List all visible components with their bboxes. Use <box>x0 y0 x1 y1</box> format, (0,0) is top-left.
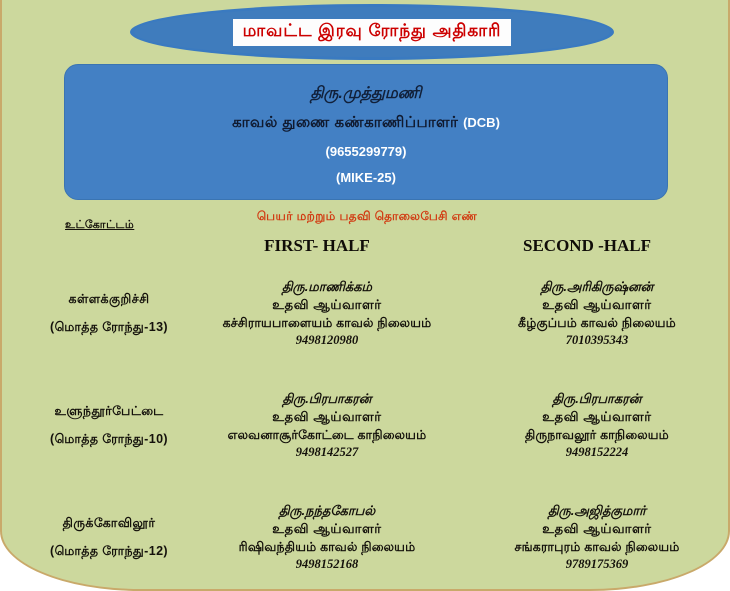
subdivision-cell: உளுந்தூர்பேட்டை (மொத்த ரோந்து-10) <box>2 404 192 448</box>
officer-phone: 9498142527 <box>192 444 462 462</box>
police-station: கீழ்குப்பம் காவல் நிலையம் <box>462 315 730 333</box>
officer-callsign: (MIKE-25) <box>336 170 396 185</box>
officer-rank-text: காவல் துணை கண்காணிப்பாளர் <box>232 114 458 131</box>
patrol-table-body: கள்ளக்குறிச்சி (மொத்த ரோந்து-13) திரு.மா… <box>2 258 730 591</box>
officer-name: திரு.பிரபாகரன் <box>462 390 730 408</box>
column-header-second-half: SECOND -HALF <box>452 236 722 256</box>
officer-name: திரு.அஜித்குமார் <box>462 502 730 520</box>
officer-phone: 9789175369 <box>462 556 730 574</box>
page-title: மாவட்ட இரவு ரோந்து அதிகாரி <box>233 19 512 46</box>
officer-name: திரு.அரிகிருஷ்னன் <box>462 278 730 296</box>
officer-name: திரு.முத்துமணி <box>310 84 421 104</box>
subdivision-name: கள்ளக்குறிச்சி <box>26 292 192 308</box>
officer-rank: உதவி ஆய்வாளர் <box>192 408 462 426</box>
first-half-cell: திரு.பிரபாகரன் உதவி ஆய்வாளர் எலவனாசூர்கோ… <box>192 390 462 462</box>
half-column-headers: FIRST- HALF SECOND -HALF <box>182 236 722 256</box>
officer-rank: காவல் துணை கண்காணிப்பாளர் (DCB) <box>232 114 500 133</box>
table-row: கள்ளக்குறிச்சி (மொத்த ரோந்து-13) திரு.மா… <box>2 258 730 370</box>
officer-name: திரு.நந்தகோபல் <box>192 502 462 520</box>
officer-rank: உதவி ஆய்வாளர் <box>192 520 462 538</box>
table-row: திருக்கோவிலூர் (மொத்த ரோந்து-12) திரு.நந… <box>2 482 730 591</box>
title-ellipse: மாவட்ட இரவு ரோந்து அதிகாரி <box>130 4 614 60</box>
district-officer-card: திரு.முத்துமணி காவல் துணை கண்காணிப்பாளர்… <box>64 64 668 200</box>
subdivision-name: உளுந்தூர்பேட்டை <box>26 404 192 420</box>
subdivision-patrol-total: (மொத்த ரோந்து-12) <box>26 544 192 560</box>
officer-name: திரு.மாணிக்கம் <box>192 278 462 296</box>
subdivision-patrol-total: (மொத்த ரோந்து-13) <box>26 320 192 336</box>
officer-phone: 9498120980 <box>192 332 462 350</box>
officer-rank: உதவி ஆய்வாளர் <box>462 520 730 538</box>
officer-phone: 9498152224 <box>462 444 730 462</box>
first-half-cell: திரு.மாணிக்கம் உதவி ஆய்வாளர் கச்சிராயபாள… <box>192 278 462 350</box>
subdivision-cell: கள்ளக்குறிச்சி (மொத்த ரோந்து-13) <box>2 292 192 336</box>
police-station: ரிஷிவந்தியம் காவல் நிலையம் <box>192 539 462 557</box>
table-row: உளுந்தூர்பேட்டை (மொத்த ரோந்து-10) திரு.ப… <box>2 370 730 482</box>
officer-phone: 7010395343 <box>462 332 730 350</box>
police-station: எலவனாசூர்கோட்டை காநிலையம் <box>192 427 462 445</box>
officer-rank-tag: (DCB) <box>463 115 500 130</box>
subdivision-patrol-total: (மொத்த ரோந்து-10) <box>26 432 192 448</box>
police-station: கச்சிராயபாளையம் காவல் நிலையம் <box>192 315 462 333</box>
column-header-first-half: FIRST- HALF <box>182 236 452 256</box>
police-station: திருநாவலூர் காநிலையம் <box>462 427 730 445</box>
officer-phone: 9498152168 <box>192 556 462 574</box>
second-half-cell: திரு.பிரபாகரன் உதவி ஆய்வாளர் திருநாவலூர்… <box>462 390 730 462</box>
officer-name: திரு.பிரபாகரன் <box>192 390 462 408</box>
officer-phone: (9655299779) <box>326 144 407 159</box>
first-half-cell: திரு.நந்தகோபல் உதவி ஆய்வாளர் ரிஷிவந்தியம… <box>192 502 462 574</box>
subdivision-cell: திருக்கோவிலூர் (மொத்த ரோந்து-12) <box>2 516 192 560</box>
officer-rank: உதவி ஆய்வாளர் <box>192 296 462 314</box>
officer-rank: உதவி ஆய்வாளர் <box>462 296 730 314</box>
subdivision-column-heading: உட்கோட்டம் <box>65 219 134 233</box>
subdivision-name: திருக்கோவிலூர் <box>26 516 192 532</box>
night-patrol-officer-poster: மாவட்ட இரவு ரோந்து அதிகாரி திரு.முத்துமண… <box>0 0 730 591</box>
second-half-cell: திரு.அரிகிருஷ்னன் உதவி ஆய்வாளர் கீழ்குப்… <box>462 278 730 350</box>
police-station: சங்கராபுரம் காவல் நிலையம் <box>462 539 730 557</box>
officer-rank: உதவி ஆய்வாளர் <box>462 408 730 426</box>
second-half-cell: திரு.அஜித்குமார் உதவி ஆய்வாளர் சங்கராபுர… <box>462 502 730 574</box>
